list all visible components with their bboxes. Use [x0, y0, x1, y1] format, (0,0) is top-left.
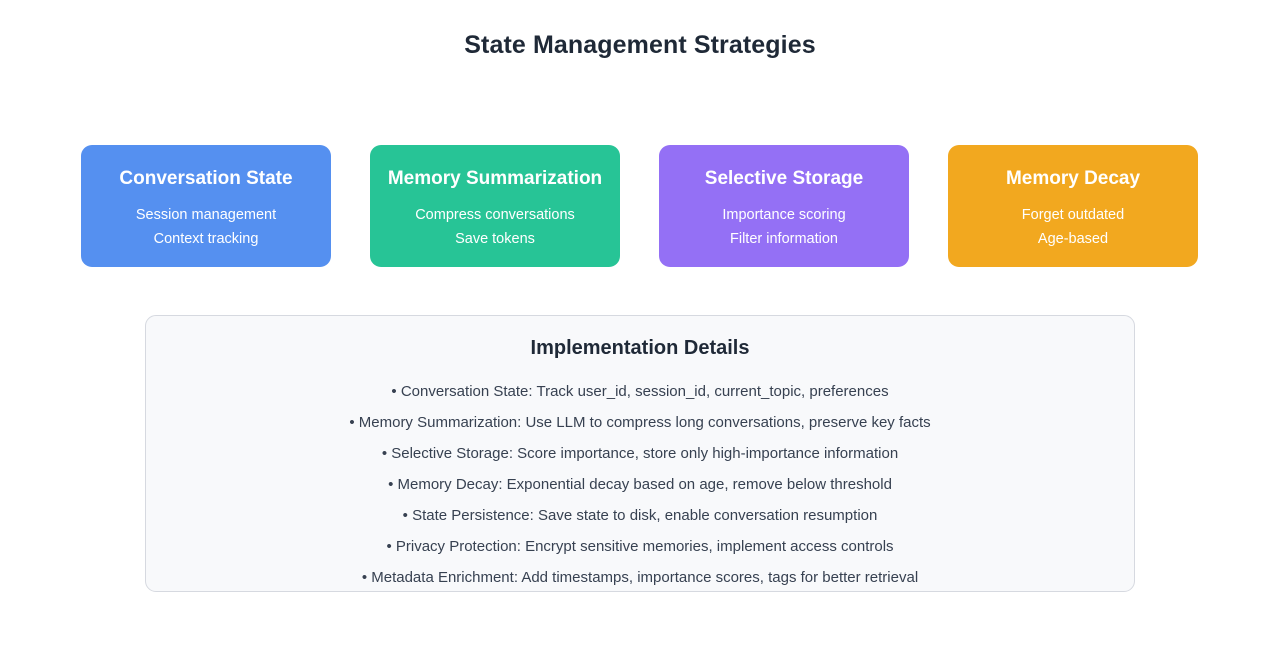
strategy-card-conversation-state: Conversation State Session management Co…	[81, 145, 331, 267]
implementation-details-panel: Implementation Details • Conversation St…	[145, 315, 1135, 592]
implementation-details-item: • Conversation State: Track user_id, ses…	[391, 376, 888, 407]
implementation-details-item: • Memory Decay: Exponential decay based …	[388, 469, 892, 500]
implementation-details-item: • Metadata Enrichment: Add timestamps, i…	[362, 562, 918, 593]
strategy-card-line-1: Compress conversations	[415, 203, 575, 227]
strategy-card-lines: Forget outdated Age-based	[1022, 203, 1124, 251]
strategy-card-title: Selective Storage	[705, 168, 863, 190]
strategy-card-line-1: Importance scoring	[722, 203, 845, 227]
strategy-card-memory-summarization: Memory Summarization Compress conversati…	[370, 145, 620, 267]
strategy-card-line-2: Save tokens	[455, 227, 535, 251]
page-title: State Management Strategies	[0, 31, 1280, 60]
implementation-details-item: • State Persistence: Save state to disk,…	[403, 500, 878, 531]
strategy-card-title: Memory Summarization	[388, 168, 602, 190]
strategy-cards-row: Conversation State Session management Co…	[81, 145, 1198, 267]
diagram-canvas: State Management Strategies Conversation…	[0, 0, 1280, 660]
implementation-details-list: • Conversation State: Track user_id, ses…	[146, 376, 1134, 593]
strategy-card-line-1: Forget outdated	[1022, 203, 1124, 227]
strategy-card-line-2: Age-based	[1038, 227, 1108, 251]
strategy-card-lines: Session management Context tracking	[136, 203, 276, 251]
strategy-card-line-2: Filter information	[730, 227, 838, 251]
strategy-card-selective-storage: Selective Storage Importance scoring Fil…	[659, 145, 909, 267]
strategy-card-memory-decay: Memory Decay Forget outdated Age-based	[948, 145, 1198, 267]
implementation-details-item: • Selective Storage: Score importance, s…	[382, 438, 898, 469]
strategy-card-title: Memory Decay	[1006, 168, 1140, 190]
implementation-details-item: • Memory Summarization: Use LLM to compr…	[349, 407, 930, 438]
strategy-card-line-1: Session management	[136, 203, 276, 227]
strategy-card-lines: Compress conversations Save tokens	[415, 203, 575, 251]
implementation-details-title: Implementation Details	[531, 336, 750, 360]
strategy-card-line-2: Context tracking	[154, 227, 259, 251]
strategy-card-title: Conversation State	[119, 168, 292, 190]
strategy-card-lines: Importance scoring Filter information	[722, 203, 845, 251]
implementation-details-item: • Privacy Protection: Encrypt sensitive …	[386, 531, 893, 562]
